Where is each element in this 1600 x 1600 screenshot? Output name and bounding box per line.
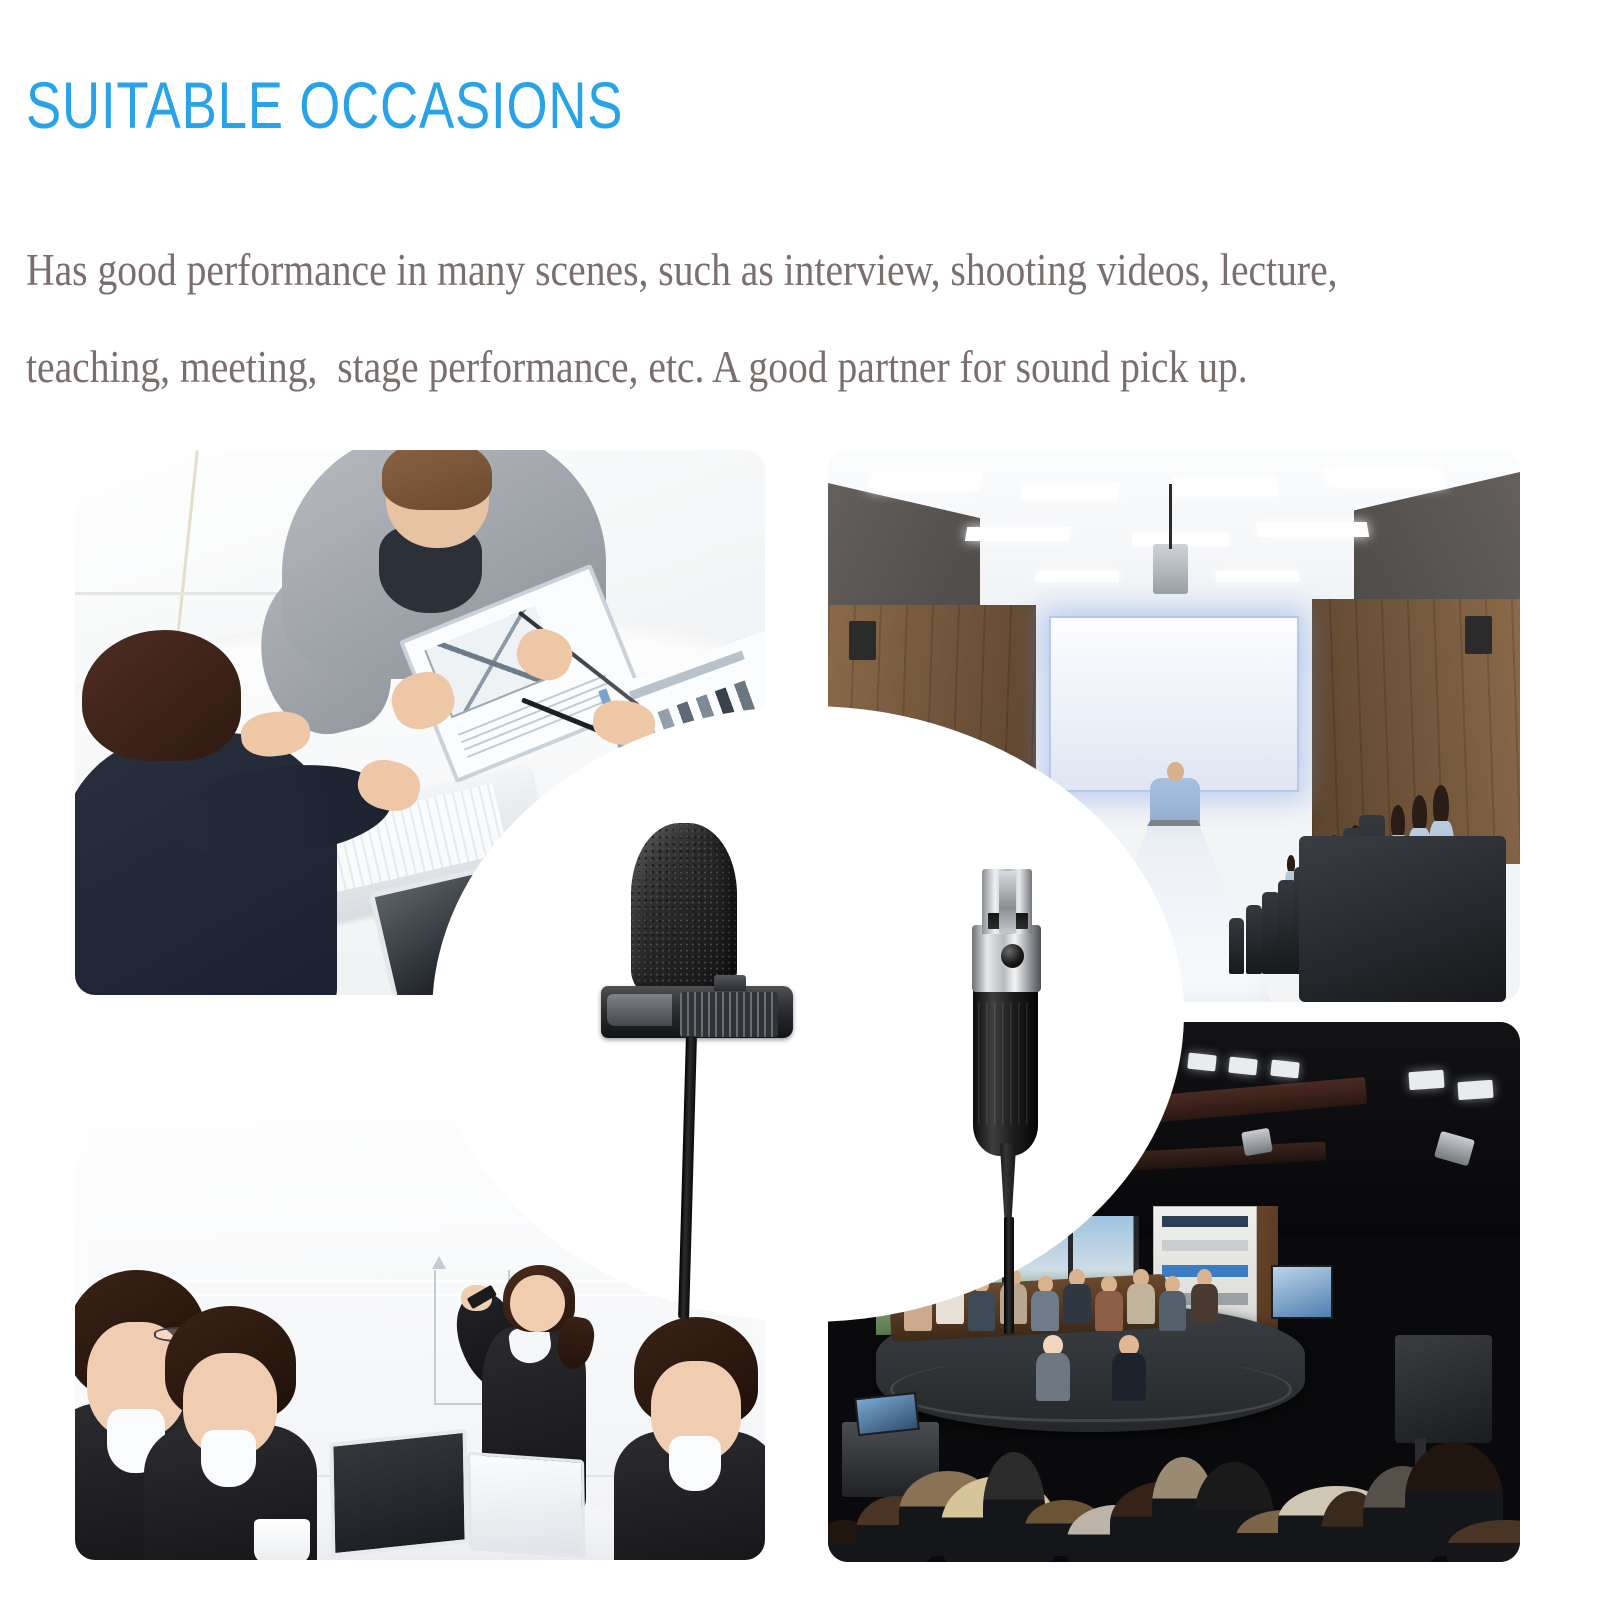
attendee-head: [1412, 795, 1427, 833]
laptop-second: [468, 1452, 587, 1559]
panelist-body: [1191, 1284, 1219, 1324]
microphone-cable: [678, 1035, 697, 1319]
connector-key-slot: [999, 871, 1016, 933]
host-body: [1036, 1353, 1071, 1401]
wall-speaker-left: [849, 621, 877, 660]
ceiling-light: [1215, 571, 1299, 582]
studio-light: [1457, 1080, 1493, 1101]
coffee-cup: [254, 1519, 309, 1560]
ceiling-light: [1035, 571, 1119, 582]
conference-chair: [1229, 918, 1244, 974]
conference-chair: [1246, 905, 1262, 974]
connector-cable: [1004, 1217, 1014, 1334]
host: [1112, 1335, 1147, 1400]
conference-chair: [1262, 892, 1280, 974]
studio-light: [1270, 1059, 1299, 1078]
panelist: [1191, 1269, 1219, 1323]
ceiling-light: [1256, 522, 1369, 537]
studio-light: [1229, 1056, 1258, 1075]
host: [1036, 1335, 1071, 1400]
attendee-shirt: [201, 1430, 256, 1487]
attendee-shirt: [669, 1436, 721, 1491]
ceiling-light: [1020, 483, 1119, 500]
spotlight-body: [1241, 1128, 1272, 1157]
attendee-head: [1433, 785, 1449, 826]
ceiling-light: [866, 472, 983, 491]
woman-hair: [82, 630, 241, 761]
connector-release-button: [1001, 944, 1024, 968]
wall-seam-horizontal: [75, 592, 310, 595]
tie-clip-tab: [714, 975, 746, 991]
wall-speaker-right: [1465, 616, 1493, 655]
studio-light: [1409, 1069, 1445, 1090]
ceiling-projector: [1153, 544, 1188, 594]
laptop-open: [330, 1428, 469, 1557]
ceiling-light: [965, 527, 1071, 541]
ceiling-light: [1324, 467, 1447, 487]
audience-rows: [828, 1400, 1520, 1562]
host-body: [1112, 1353, 1147, 1401]
man-hair: [382, 450, 492, 510]
studio-monitor: [1271, 1265, 1333, 1319]
connector-grip-ribs: [978, 1002, 1034, 1125]
attendee: [634, 1317, 758, 1560]
ceiling-light: [1173, 478, 1279, 496]
tie-clip-grip: [680, 992, 778, 1036]
foreground-monitor: [1299, 836, 1507, 1002]
lavalier-microphone: [432, 706, 1184, 1322]
